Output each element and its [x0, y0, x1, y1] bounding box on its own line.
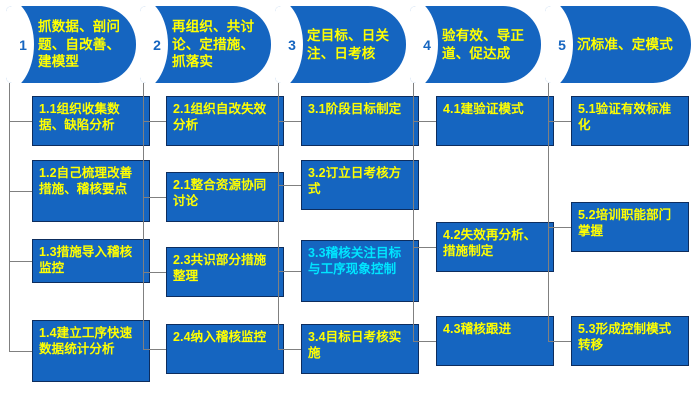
- connector-trunk-2: [143, 83, 144, 349]
- task-box-3.2[interactable]: 3.2订立日考核方式: [301, 160, 419, 210]
- task-box-3.1[interactable]: 3.1阶段目标制定: [301, 96, 419, 146]
- connector-branch-4.1: [413, 121, 436, 122]
- task-box-3.3[interactable]: 3.3稽核关注目标与工序现象控制: [301, 240, 419, 302]
- task-box-1.1[interactable]: 1.1组织收集数据、缺陷分析: [32, 96, 150, 146]
- phase-banner-label-2: 再组织、共讨论、定措施、抓落实: [172, 6, 257, 83]
- task-box-5.2[interactable]: 5.2培训职能部门掌握: [571, 202, 689, 252]
- phase-number-5: 5: [549, 6, 575, 83]
- phase-banner-1[interactable]: 1抓数据、剖问题、自改善、建模型: [6, 6, 136, 83]
- connector-branch-1.4: [9, 351, 32, 352]
- task-box-2.3[interactable]: 2.3共识部分措施整理: [166, 247, 284, 297]
- connector-branch-3.2: [278, 185, 301, 186]
- task-box-4.2[interactable]: 4.2失效再分析、措施制定: [436, 222, 554, 272]
- connector-branch-1.3: [9, 261, 32, 262]
- task-box-4.1[interactable]: 4.1建验证模式: [436, 96, 554, 146]
- connector-branch-4.3: [413, 341, 436, 342]
- task-box-1.3[interactable]: 1.3措施导入稽核监控: [32, 239, 150, 283]
- connector-branch-2.1b: [143, 197, 166, 198]
- phase-banner-label-3: 定目标、日关注、日考核: [307, 6, 392, 83]
- phase-number-4: 4: [414, 6, 440, 83]
- task-box-1.4[interactable]: 1.4建立工序快速数据统计分析: [32, 320, 150, 382]
- connector-branch-2.4: [143, 349, 166, 350]
- phase-banner-label-4: 验有效、导正道、促达成: [442, 6, 527, 83]
- phase-number-1: 1: [10, 6, 36, 83]
- phase-banner-3[interactable]: 3定目标、日关注、日考核: [275, 6, 406, 83]
- phase-banner-label-5: 沉标准、定模式: [577, 6, 677, 83]
- connector-branch-1.2: [9, 191, 32, 192]
- phase-number-2: 2: [144, 6, 170, 83]
- task-box-2.4[interactable]: 2.4纳入稽核监控: [166, 324, 284, 374]
- connector-branch-5.3: [548, 341, 571, 342]
- task-box-4.3[interactable]: 4.3稽核跟进: [436, 316, 554, 366]
- connector-branch-4.2: [413, 247, 436, 248]
- connector-branch-5.2: [548, 227, 571, 228]
- connector-branch-2.3: [143, 272, 166, 273]
- connector-trunk-3: [278, 83, 279, 349]
- task-box-2.1[interactable]: 2.1组织自改失效分析: [166, 96, 284, 146]
- flowchart-canvas: 1抓数据、剖问题、自改善、建模型1.1组织收集数据、缺陷分析1.2自己梳理改善措…: [0, 0, 700, 407]
- task-box-5.1[interactable]: 5.1验证有效标准化: [571, 96, 689, 146]
- phase-banner-4[interactable]: 4验有效、导正道、促达成: [410, 6, 541, 83]
- connector-branch-3.4: [278, 349, 301, 350]
- phase-banner-label-1: 抓数据、剖问题、自改善、建模型: [38, 6, 122, 83]
- task-box-5.3[interactable]: 5.3形成控制模式转移: [571, 316, 689, 366]
- connector-branch-3.1: [278, 121, 301, 122]
- phase-banner-2[interactable]: 2再组织、共讨论、定措施、抓落实: [140, 6, 271, 83]
- phase-number-3: 3: [279, 6, 305, 83]
- connector-trunk-1: [9, 83, 10, 351]
- connector-branch-3.3: [278, 271, 301, 272]
- task-box-3.4[interactable]: 3.4目标日考核实施: [301, 324, 419, 374]
- connector-branch-5.1: [548, 121, 571, 122]
- connector-branch-1.1: [9, 121, 32, 122]
- phase-banner-5[interactable]: 5沉标准、定模式: [545, 6, 691, 83]
- task-box-1.2[interactable]: 1.2自己梳理改善措施、稽核要点: [32, 160, 150, 222]
- connector-branch-2.1: [143, 121, 166, 122]
- task-box-2.1b[interactable]: 2.1整合资源协同讨论: [166, 172, 284, 222]
